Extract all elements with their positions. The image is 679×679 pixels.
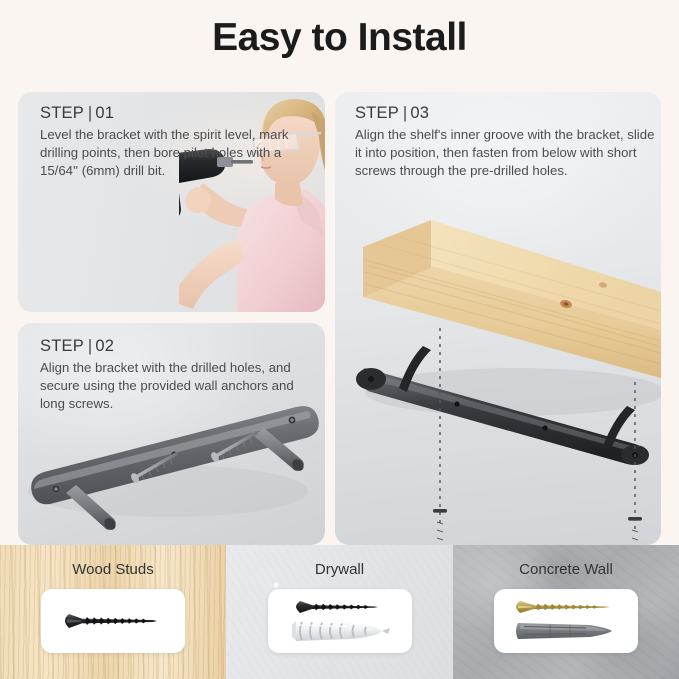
step-03-text: STEP|03 Align the shelf's inner groove w… (355, 104, 655, 180)
page-title: Easy to Install (0, 16, 679, 60)
gray-wall-plug-icon (516, 623, 612, 639)
hardware-label-drywall: Drywall (226, 561, 453, 578)
step-01-description: Level the bracket with the spirit level,… (40, 126, 290, 180)
step-03-description: Align the shelf's inner groove with the … (355, 126, 655, 180)
step-03-label: STEP|03 (355, 104, 655, 123)
drywall-hardware-icons (278, 595, 402, 647)
hardware-panel-drywall: Drywall (226, 545, 453, 679)
concrete-hardware-icons (504, 595, 628, 647)
black-screw-icon (296, 601, 378, 613)
hardware-strip: Wood Studs (0, 545, 679, 679)
step-card-01: STEP|01 Level the bracket with the spiri… (18, 92, 325, 312)
step-card-02: STEP|02 Align the bracket with the drill… (18, 323, 325, 545)
step-01-text: STEP|01 Level the bracket with the spiri… (40, 104, 290, 180)
hardware-card-wood-studs (41, 589, 185, 653)
white-drywall-anchor-icon (292, 621, 390, 641)
hardware-panel-wood-studs: Wood Studs (0, 545, 226, 679)
step-02-text: STEP|02 Align the bracket with the drill… (40, 337, 302, 413)
brass-screw-icon (516, 601, 610, 613)
hardware-label-concrete-wall: Concrete Wall (453, 561, 679, 578)
hardware-panel-concrete-wall: Concrete Wall (453, 545, 679, 679)
step-02-description: Align the bracket with the drilled holes… (40, 359, 302, 413)
hardware-label-wood-studs: Wood Studs (0, 561, 226, 578)
step-card-03: STEP|03 Align the shelf's inner groove w… (335, 92, 661, 545)
black-wood-screw-icon (53, 604, 173, 638)
step-01-label: STEP|01 (40, 104, 290, 123)
step-02-label: STEP|02 (40, 337, 302, 356)
hardware-card-drywall (268, 589, 412, 653)
hardware-card-concrete-wall (494, 589, 638, 653)
